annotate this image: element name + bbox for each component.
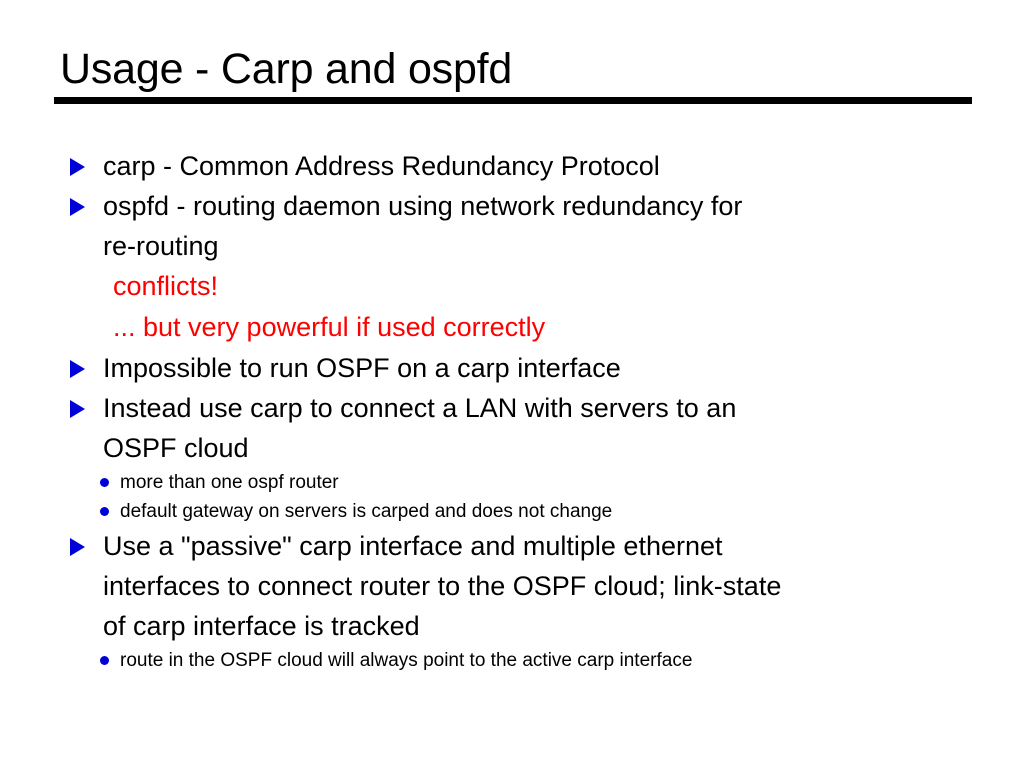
page-title: Usage - Carp and ospfd	[60, 43, 512, 95]
annotation-label: ... but very powerful if used correctly	[113, 312, 545, 342]
list-item-label: of carp interface is tracked	[103, 611, 420, 641]
list-item-label: ospfd - routing daemon using network red…	[103, 186, 984, 226]
sub-list-item: more than one ospf router	[0, 468, 1024, 497]
triangle-right-icon	[70, 538, 85, 556]
list-item: Instead use carp to connect a LAN with s…	[0, 388, 1024, 428]
sub-list-item: default gateway on servers is carped and…	[0, 497, 1024, 526]
triangle-right-icon	[70, 400, 85, 418]
list-item-label: carp - Common Address Redundancy Protoco…	[103, 146, 984, 186]
sub-list-item: route in the OSPF cloud will always poin…	[0, 646, 1024, 675]
triangle-right-icon	[70, 158, 85, 176]
dot-icon	[100, 507, 109, 516]
list-item-continuation: OSPF cloud	[0, 428, 1024, 468]
triangle-right-icon	[70, 360, 85, 378]
list-item: carp - Common Address Redundancy Protoco…	[0, 146, 1024, 186]
list-item-continuation: of carp interface is tracked	[0, 606, 1024, 646]
sub-list-item-label: route in the OSPF cloud will always poin…	[120, 650, 692, 671]
list-item-label: Instead use carp to connect a LAN with s…	[103, 388, 984, 428]
list-item-continuation: interfaces to connect router to the OSPF…	[0, 566, 1024, 606]
bullet-list: carp - Common Address Redundancy Protoco…	[0, 146, 1024, 675]
dot-icon	[100, 656, 109, 665]
list-item-label: Use a "passive" carp interface and multi…	[103, 526, 984, 566]
triangle-right-icon	[70, 198, 85, 216]
list-item-label: re-routing	[103, 231, 219, 261]
list-item-label: interfaces to connect router to the OSPF…	[103, 571, 781, 601]
title-divider	[54, 97, 972, 104]
annotation-line: ... but very powerful if used correctly	[0, 307, 1024, 348]
sub-list-item-label: more than one ospf router	[120, 472, 339, 493]
slide: Usage - Carp and ospfd carp - Common Add…	[0, 0, 1024, 768]
sub-list-item-label: default gateway on servers is carped and…	[120, 501, 612, 522]
list-item-label: OSPF cloud	[103, 433, 249, 463]
list-item: ospfd - routing daemon using network red…	[0, 186, 1024, 226]
list-item-continuation: re-routing	[0, 226, 1024, 266]
list-item-label: Impossible to run OSPF on a carp interfa…	[103, 348, 984, 388]
dot-icon	[100, 478, 109, 487]
list-item: Use a "passive" carp interface and multi…	[0, 526, 1024, 566]
annotation-label: conflicts!	[113, 271, 218, 301]
annotation-line: conflicts!	[0, 266, 1024, 307]
list-item: Impossible to run OSPF on a carp interfa…	[0, 348, 1024, 388]
